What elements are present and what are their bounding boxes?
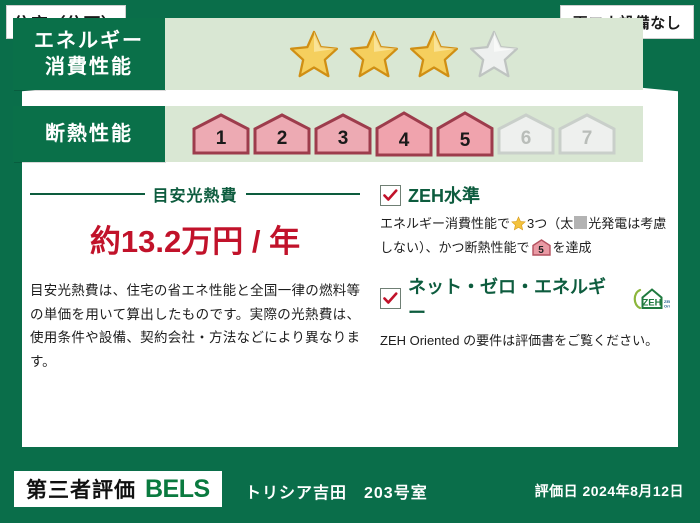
star-filled-icon [408, 29, 460, 79]
zeh-standard-title: ZEH水準 [380, 182, 670, 208]
bels-certification-box: 第三者評価 BELS [14, 471, 222, 507]
insulation-performance-row: 断熱性能 1234567 [13, 106, 643, 162]
cost-value: 約13.2万円 / 年 [30, 216, 360, 261]
zeh-standard-description: エネルギー消費性能で 3つ（太光発電は考慮しない）、かつ断熱性能で 5 を達成 [380, 213, 670, 259]
zeh-desc-part3: を達成 [553, 240, 592, 255]
energy-consumption-row: エネルギー 消費性能 [13, 18, 643, 90]
star-empty-icon [468, 29, 520, 79]
insulation-level-achieved: 1 [192, 113, 250, 155]
insulation-level-inactive: 6 [497, 113, 555, 155]
energy-tag-line2: 消費性能 [45, 54, 133, 80]
checkbox-checked-icon [380, 288, 401, 309]
checkbox-checked-icon [380, 185, 401, 206]
insulation-level-number: 1 [216, 128, 227, 155]
property-unit-name: トリシア吉田 203号室 [245, 479, 428, 503]
rule-right [246, 193, 361, 195]
insulation-level-inactive: 7 [558, 113, 616, 155]
zeh-netzero-label: ネット・ゼロ・エネルギー [408, 273, 620, 325]
rule-left [30, 193, 145, 195]
redacted-text-block [574, 216, 587, 229]
zeh-item-net-zero: ネット・ゼロ・エネルギー ZEH ZEH Oriented ZEH Orient… [380, 273, 670, 351]
energy-consumption-tag: エネルギー 消費性能 [13, 18, 165, 90]
zeh-netzero-description: ZEH Oriented の要件は評価書をご覧ください。 [380, 330, 670, 351]
cost-note: 目安光熱費は、住宅の省エネ性能と全国一律の燃料等の単価を用いて算出したものです。… [30, 279, 360, 374]
insulation-level-number: 7 [582, 128, 593, 155]
third-party-evaluation-label: 第三者評価 [26, 474, 136, 504]
svg-text:ZEH: ZEH [643, 297, 662, 308]
inline-house-number: 5 [532, 246, 551, 256]
insulation-level-achieved: 2 [253, 113, 311, 155]
zeh-oriented-logo-icon: ZEH ZEH Oriented [630, 286, 670, 312]
insulation-level-number: 3 [338, 128, 349, 155]
zeh-item-standard: ZEH水準 エネルギー消費性能で 3つ（太光発電は考慮しない）、かつ断熱性能で … [380, 182, 670, 259]
inline-star-icon [511, 216, 526, 237]
star-filled-icon [348, 29, 400, 79]
star-rating [165, 18, 643, 90]
insulation-level-achieved: 3 [314, 113, 372, 155]
zeh-block: ZEH水準 エネルギー消費性能で 3つ（太光発電は考慮しない）、かつ断熱性能で … [380, 182, 670, 365]
insulation-level-number: 6 [521, 128, 532, 155]
zeh-desc-stars: 3つ（太 [527, 216, 573, 231]
estimated-utility-cost-block: 目安光熱費 約13.2万円 / 年 目安光熱費は、住宅の省エネ性能と全国一律の燃… [30, 182, 360, 374]
insulation-level-number: 5 [460, 130, 471, 157]
cost-heading-text: 目安光熱費 [153, 182, 238, 206]
evaluation-date: 評価日 2024年8月12日 [535, 481, 684, 501]
bels-wordmark: BELS [145, 475, 210, 504]
insulation-level-number: 2 [277, 128, 288, 155]
svg-text:Oriented: Oriented [664, 303, 670, 308]
insulation-level-achieved: 5 [436, 111, 494, 157]
zeh-desc-part1: エネルギー消費性能で [380, 216, 510, 231]
insulation-scale: 1234567 [165, 106, 643, 162]
energy-performance-label: 住宅（住戸） 再エネ設備なし 建築物省エネ法に基づく 省エネ性能ラベル エネルギ… [0, 0, 700, 523]
cost-heading: 目安光熱費 [30, 182, 360, 206]
insulation-tag: 断熱性能 [13, 106, 165, 162]
star-filled-icon [288, 29, 340, 79]
energy-tag-line1: エネルギー [34, 28, 144, 54]
insulation-level-achieved: 4 [375, 111, 433, 157]
label-footer: 第三者評価 BELS トリシア吉田 203号室 評価日 2024年8月12日 [0, 457, 700, 523]
inline-house-icon: 5 [532, 239, 551, 256]
insulation-level-number: 4 [399, 130, 410, 157]
zeh-netzero-title: ネット・ゼロ・エネルギー ZEH ZEH Oriented [380, 273, 670, 325]
zeh-standard-label: ZEH水準 [408, 182, 480, 208]
